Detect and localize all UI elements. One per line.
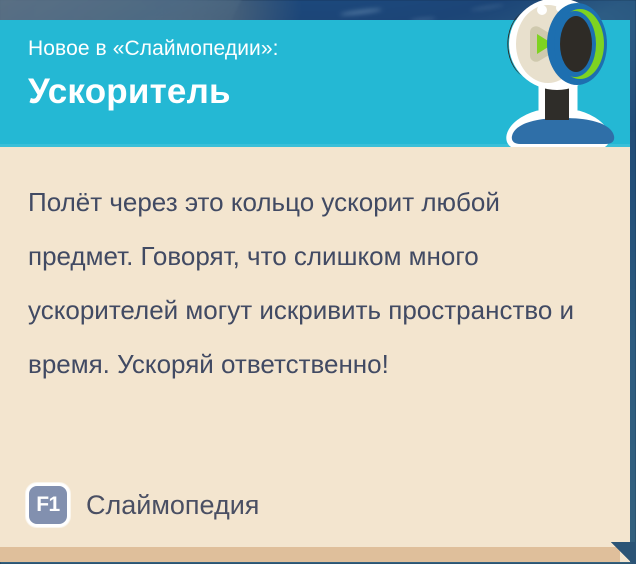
card-bottom-strip — [0, 547, 620, 562]
card-description: Полёт через это кольцо ускорит любой пре… — [28, 175, 604, 391]
screen-corner-backdrop — [610, 542, 636, 564]
card-footer: F1 Слаймопедия — [26, 483, 259, 527]
slimepedia-notification-card: Новое в «Слаймопедии»: Ускоритель — [0, 20, 630, 562]
card-title: Ускоритель — [28, 71, 500, 113]
ring-dot — [537, 5, 547, 15]
card-eyebrow: Новое в «Слаймопедии»: — [28, 36, 500, 61]
backdrop-streak — [340, 7, 382, 16]
accelerator-ring-icon — [492, 0, 622, 150]
header-text-block: Новое в «Слаймопедии»: Ускоритель — [28, 36, 500, 113]
ring-center — [560, 16, 592, 72]
card-header: Новое в «Слаймопедии»: Ускоритель — [0, 20, 630, 147]
slimepedia-action-label[interactable]: Слаймопедия — [86, 492, 259, 519]
game-screen: Новое в «Слаймопедии»: Ускоритель — [0, 0, 636, 564]
f1-key-badge[interactable]: F1 — [26, 483, 70, 527]
card-body: Полёт через это кольцо ускорит любой пре… — [0, 147, 630, 562]
